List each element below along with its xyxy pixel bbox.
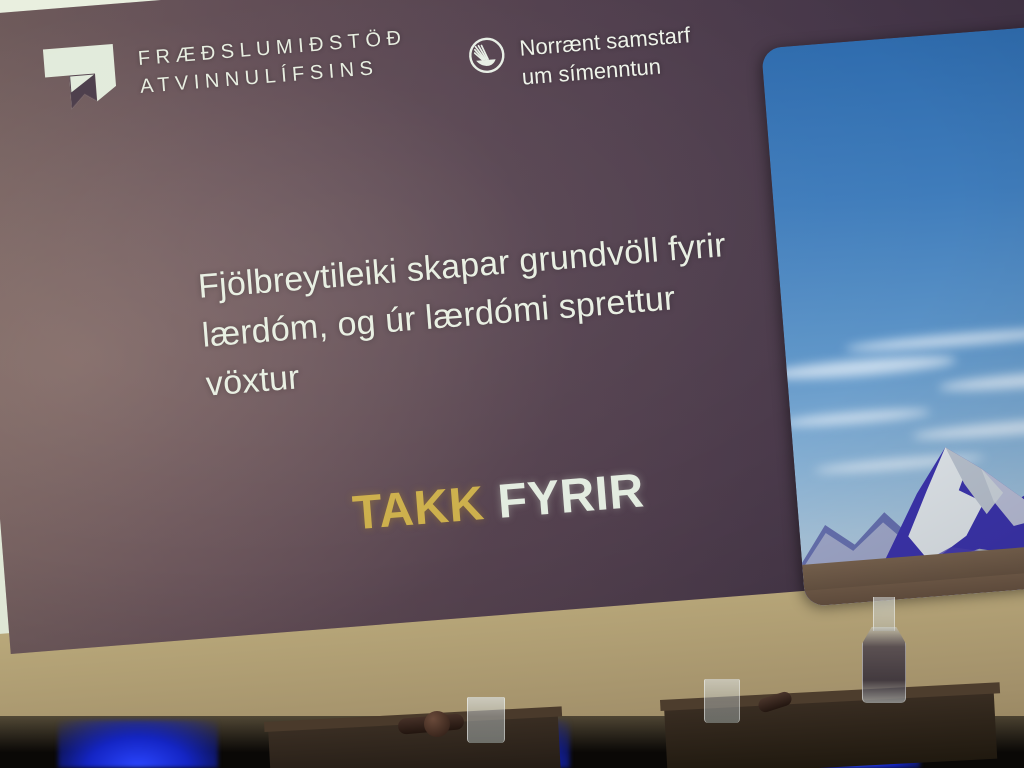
presentation-room-photo: FRÆÐSLUMIÐSTÖÐ ATVINNULÍFSINS: [0, 0, 1024, 768]
carafe-body: [862, 627, 906, 703]
microphone-left-head-icon: [424, 711, 450, 737]
water-glass-right: [704, 679, 740, 723]
thanks-word-plain: FYRIR: [496, 464, 646, 528]
fa-speech-bubble-mark-icon: [41, 42, 120, 114]
water-glass-left: [467, 697, 505, 743]
nordic-swan-circle-icon: [467, 35, 508, 76]
thanks-word-highlight: TAKK: [351, 477, 487, 540]
mountain-photo-panel: [761, 24, 1024, 607]
water-carafe: [862, 597, 904, 703]
projected-slide: FRÆÐSLUMIÐSTÖÐ ATVINNULÍFSINS: [0, 0, 1024, 654]
carafe-neck: [873, 597, 895, 631]
stage-led-blue: [58, 720, 218, 768]
